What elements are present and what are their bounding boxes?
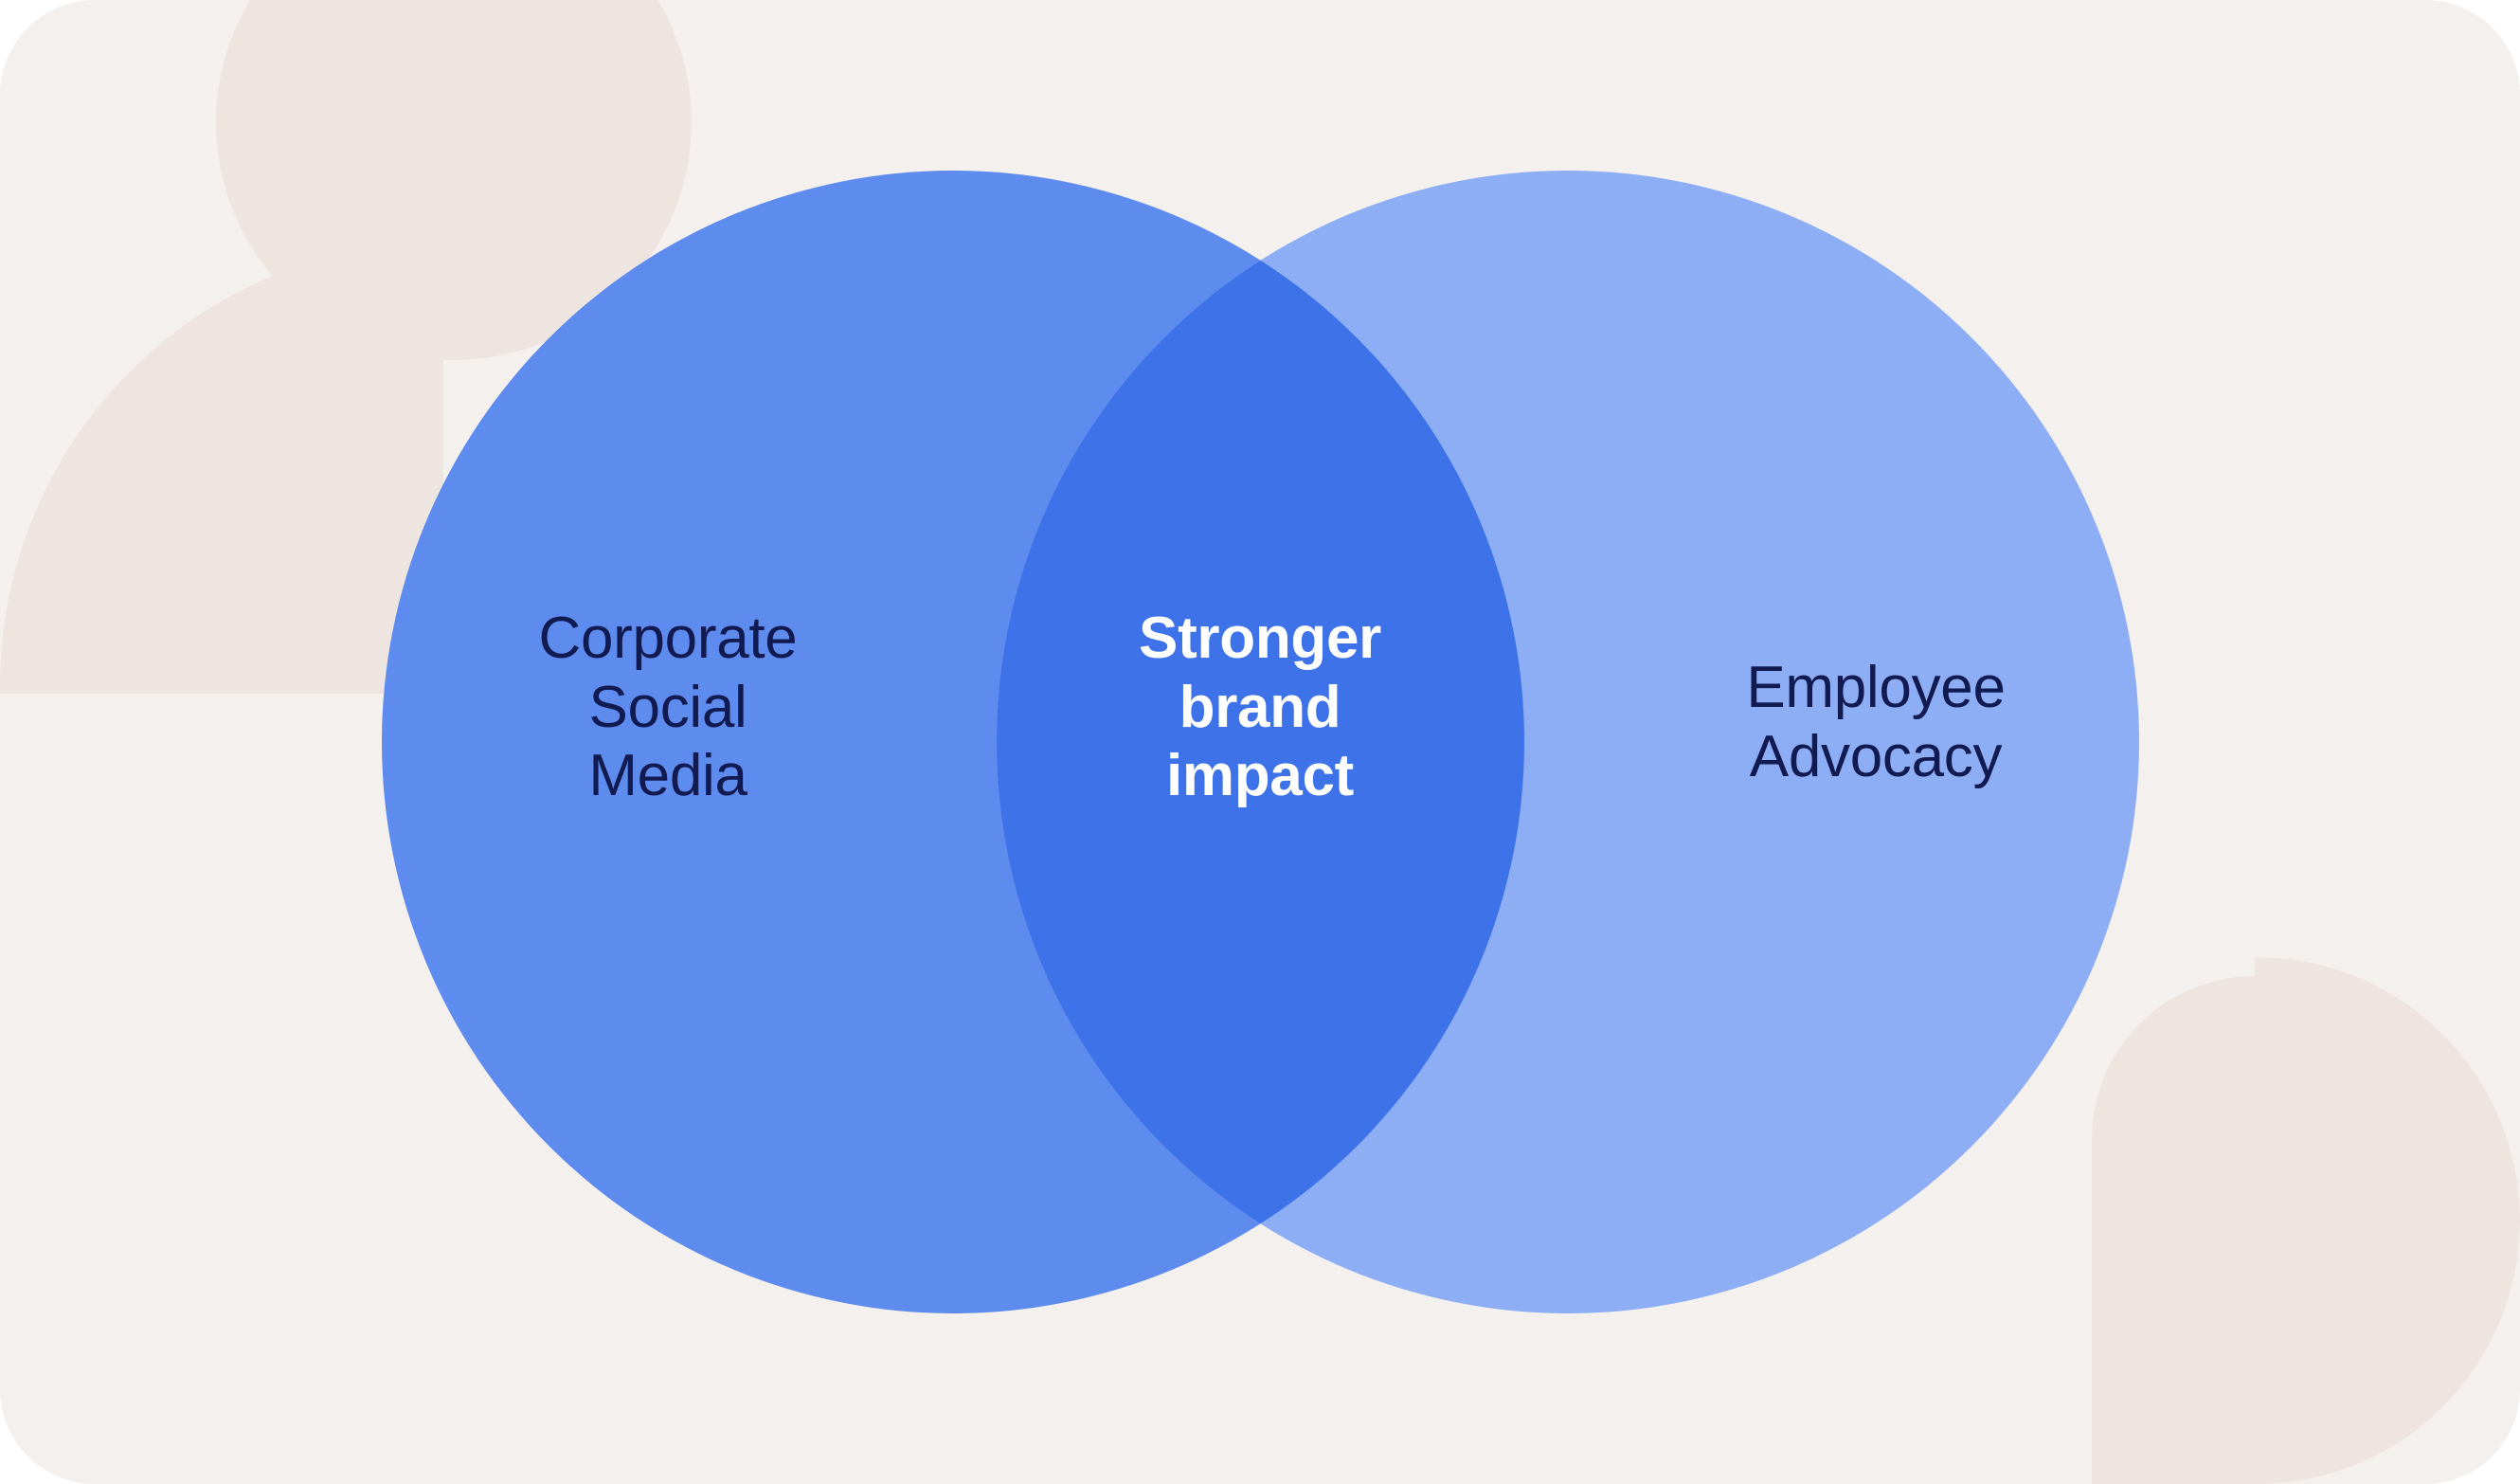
venn-label-employee-advocacy: Employee Advocacy (1667, 654, 2084, 791)
venn-diagram-canvas: Corporate Social Media Stronger brand im… (0, 0, 2520, 1484)
venn-label-stronger-brand-impact: Stronger brand impact (1071, 605, 1449, 811)
venn-diagram: Corporate Social Media Stronger brand im… (0, 0, 2520, 1484)
venn-label-corporate-social-media: Corporate Social Media (464, 605, 872, 811)
